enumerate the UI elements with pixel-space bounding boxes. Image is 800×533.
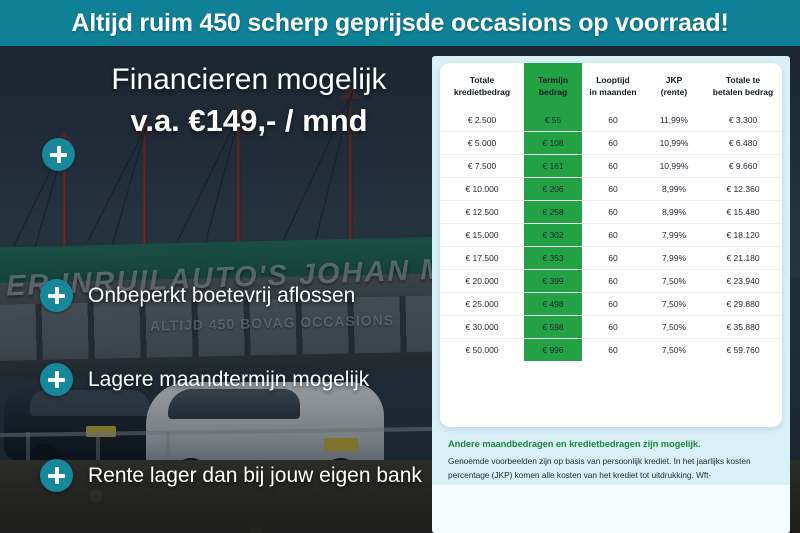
table-row: € 2.500€ 556011,99%€ 3.300 <box>440 109 782 132</box>
table-row: € 20.000€ 399607,50%€ 23.940 <box>440 269 782 292</box>
table-row: € 17.500€ 353607,99%€ 21.180 <box>440 246 782 269</box>
promo-bullet-label: Lagere maandtermijn mogelijk <box>88 362 433 398</box>
table-cell-looptijd: 60 <box>582 292 644 315</box>
table-cell-termijn: € 55 <box>524 109 582 132</box>
table-cell-jkp: 7,50% <box>644 315 704 338</box>
table-cell-looptijd: 60 <box>582 338 644 361</box>
promo-bullet-label: Onbeperkt boetevrij aflossen <box>88 278 433 314</box>
table-cell-termijn: € 598 <box>524 315 582 338</box>
table-cell-totaal: € 59.760 <box>704 338 782 361</box>
table-cell-totaal: € 23.940 <box>704 269 782 292</box>
table-column-header-line2: kredietbedrag <box>442 86 522 98</box>
table-cell-krediet: € 7.500 <box>440 154 524 177</box>
table-column-header-termijn: Termijnbedrag <box>524 63 582 109</box>
table-cell-termijn: € 399 <box>524 269 582 292</box>
table-row: € 5.000€ 1086010,99%€ 6.480 <box>440 131 782 154</box>
table-cell-termijn: € 108 <box>524 131 582 154</box>
table-cell-jkp: 7,50% <box>644 292 704 315</box>
table-cell-jkp: 11,99% <box>644 109 704 132</box>
rates-table-card: TotalekredietbedragTermijnbedragLooptijd… <box>440 63 782 427</box>
table-cell-termijn: € 161 <box>524 154 582 177</box>
table-cell-termijn: € 353 <box>524 246 582 269</box>
table-row: € 12.500€ 258608,99%€ 15.480 <box>440 200 782 223</box>
table-column-header-line2: (rente) <box>646 86 702 98</box>
table-column-header-line1: Looptijd <box>584 74 642 86</box>
table-header-row: TotalekredietbedragTermijnbedragLooptijd… <box>440 63 782 109</box>
table-cell-totaal: € 15.480 <box>704 200 782 223</box>
table-row: € 15.000€ 302607,99%€ 18.120 <box>440 223 782 246</box>
table-cell-jkp: 7,50% <box>644 269 704 292</box>
promo-copy-column: Financieren mogelijk v.a. €149,- / mnd O… <box>0 46 430 533</box>
financing-rates-table: TotalekredietbedragTermijnbedragLooptijd… <box>440 63 782 361</box>
table-cell-totaal: € 9.660 <box>704 154 782 177</box>
table-cell-krediet: € 30.000 <box>440 315 524 338</box>
advertisement-stage: ER INRUILAUTO'S JOHAN MEURE ALTIJD 450 B… <box>0 0 800 533</box>
table-cell-totaal: € 6.480 <box>704 131 782 154</box>
table-column-header-looptijd: Looptijdin maanden <box>582 63 644 109</box>
table-cell-jkp: 7,99% <box>644 246 704 269</box>
table-column-header-line1: Termijn <box>526 74 580 86</box>
table-cell-looptijd: 60 <box>582 269 644 292</box>
table-cell-termijn: € 258 <box>524 200 582 223</box>
table-header: TotalekredietbedragTermijnbedragLooptijd… <box>440 63 782 109</box>
table-body: € 2.500€ 556011,99%€ 3.300€ 5.000€ 10860… <box>440 109 782 361</box>
table-column-header-line2: in maanden <box>584 86 642 98</box>
fineprint-title: Andere maandbedragen en kredietbedragen … <box>448 438 774 449</box>
promo-headline: Financieren mogelijk v.a. €149,- / mnd <box>74 62 424 139</box>
top-banner: Altijd ruim 450 scherp geprijsde occasio… <box>0 0 800 46</box>
plus-icon <box>40 363 73 396</box>
table-cell-totaal: € 12.360 <box>704 177 782 200</box>
table-cell-looptijd: 60 <box>582 154 644 177</box>
table-row: € 7.500€ 1616010,99%€ 9.660 <box>440 154 782 177</box>
table-cell-krediet: € 10.000 <box>440 177 524 200</box>
promo-bullet-label: Rente lager dan bij jouw eigen bank <box>88 458 433 494</box>
table-column-header-line1: JKP <box>646 74 702 86</box>
table-column-header-totaal: Totale tebetalen bedrag <box>704 63 782 109</box>
plus-icon <box>40 459 73 492</box>
table-cell-termijn: € 498 <box>524 292 582 315</box>
table-cell-jkp: 7,99% <box>644 223 704 246</box>
table-cell-termijn: € 302 <box>524 223 582 246</box>
table-cell-looptijd: 60 <box>582 223 644 246</box>
table-cell-krediet: € 25.000 <box>440 292 524 315</box>
table-cell-looptijd: 60 <box>582 315 644 338</box>
table-cell-jkp: 10,99% <box>644 154 704 177</box>
promo-bullet-item: Rente lager dan bij jouw eigen bank <box>40 458 430 494</box>
table-cell-jkp: 8,99% <box>644 177 704 200</box>
promo-bullet-item: Lagere maandtermijn mogelijk <box>40 362 430 398</box>
table-column-header-jkp: JKP(rente) <box>644 63 704 109</box>
table-cell-termijn: € 206 <box>524 177 582 200</box>
table-cell-krediet: € 15.000 <box>440 223 524 246</box>
promo-bullet-item: Onbeperkt boetevrij aflossen <box>40 278 430 314</box>
table-cell-looptijd: 60 <box>582 200 644 223</box>
table-cell-totaal: € 3.300 <box>704 109 782 132</box>
table-cell-looptijd: 60 <box>582 246 644 269</box>
promo-headline-line1: Financieren mogelijk <box>111 63 386 96</box>
table-cell-krediet: € 50.000 <box>440 338 524 361</box>
table-cell-totaal: € 18.120 <box>704 223 782 246</box>
table-cell-krediet: € 5.000 <box>440 131 524 154</box>
financing-info-panel: TotalekredietbedragTermijnbedragLooptijd… <box>432 56 790 533</box>
table-cell-totaal: € 35.880 <box>704 315 782 338</box>
table-column-header-line2: bedrag <box>526 86 580 98</box>
promo-headline-line2: v.a. €149,- / mnd <box>74 102 424 140</box>
table-cell-krediet: € 17.500 <box>440 246 524 269</box>
table-cell-jkp: 7,50% <box>644 338 704 361</box>
table-column-header-line1: Totale te <box>706 74 780 86</box>
table-cell-jkp: 8,99% <box>644 200 704 223</box>
table-cell-totaal: € 21.180 <box>704 246 782 269</box>
table-row: € 50.000€ 996607,50%€ 59.760 <box>440 338 782 361</box>
table-cell-jkp: 10,99% <box>644 131 704 154</box>
table-row: € 30.000€ 598607,50%€ 35.880 <box>440 315 782 338</box>
table-row: € 25.000€ 498607,50%€ 29.880 <box>440 292 782 315</box>
table-cell-looptijd: 60 <box>582 131 644 154</box>
table-column-header-line1: Totale <box>442 74 522 86</box>
table-cell-totaal: € 29.880 <box>704 292 782 315</box>
table-cell-krediet: € 2.500 <box>440 109 524 132</box>
warning-strip-background <box>432 485 790 533</box>
table-cell-termijn: € 996 <box>524 338 582 361</box>
plus-icon <box>40 279 73 312</box>
table-cell-looptijd: 60 <box>582 177 644 200</box>
table-row: € 10.000€ 206608,99%€ 12.360 <box>440 177 782 200</box>
table-cell-krediet: € 20.000 <box>440 269 524 292</box>
table-column-header-line2: betalen bedrag <box>706 86 780 98</box>
table-cell-krediet: € 12.500 <box>440 200 524 223</box>
plus-icon <box>42 138 75 171</box>
table-cell-looptijd: 60 <box>582 109 644 132</box>
banner-headline: Altijd ruim 450 scherp geprijsde occasio… <box>0 0 800 46</box>
table-column-header-krediet: Totalekredietbedrag <box>440 63 524 109</box>
